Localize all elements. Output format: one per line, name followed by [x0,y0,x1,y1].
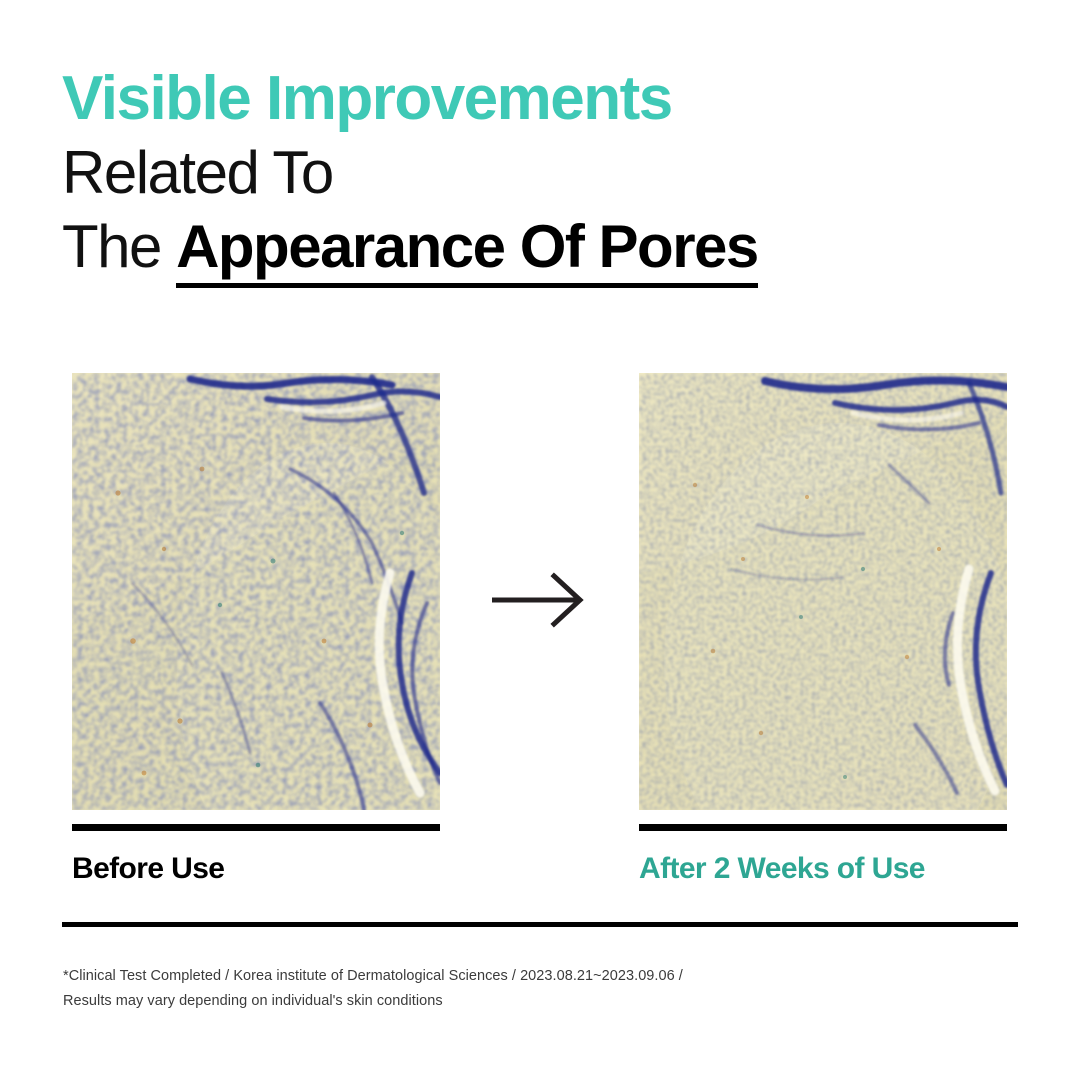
footnote-line-2: Results may vary depending on individual… [63,989,963,1014]
after-panel: After 2 Weeks of Use [639,373,1007,887]
after-rule [639,824,1007,831]
before-panel: Before Use [72,373,440,887]
arrow-right-icon [492,572,588,628]
after-label: After 2 Weeks of Use [639,851,1007,887]
after-photo [639,373,1007,810]
skin-texture-before-icon [72,373,440,810]
footer-divider [62,922,1018,927]
footnote-line-1: *Clinical Test Completed / Korea institu… [63,964,963,989]
promo-page: Visible Improvements Related To The Appe… [0,0,1080,1080]
before-label: Before Use [72,851,440,887]
before-photo [72,373,440,810]
footnote: *Clinical Test Completed / Korea institu… [63,964,963,1014]
skin-texture-after-icon [639,373,1007,810]
before-after-comparison: Before Use [0,0,1080,1080]
before-rule [72,824,440,831]
